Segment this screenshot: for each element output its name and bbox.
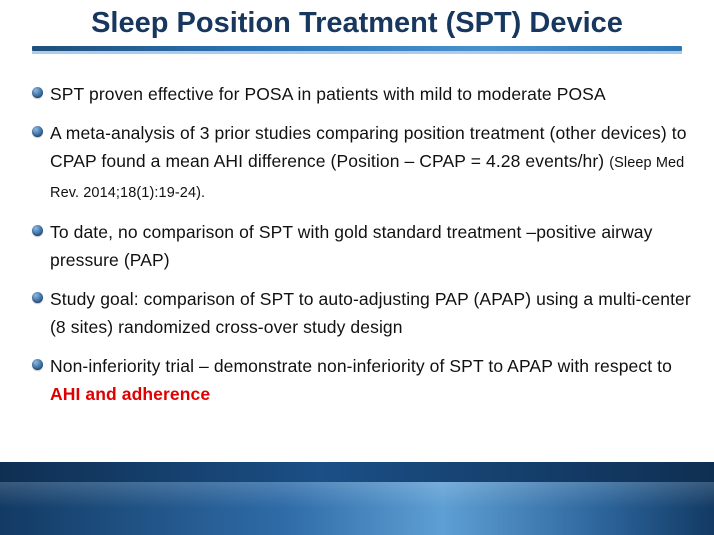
bullet-dot-icon [24,352,50,370]
list-item-text: To date, no comparison of SPT with gold … [50,218,696,274]
title-divider-bottom [32,51,682,54]
title-area: Sleep Position Treatment (SPT) Device [0,6,714,40]
slide-footer-band [0,462,714,535]
list-item: Study goal: comparison of SPT to auto-ad… [24,285,696,341]
list-item-main: To date, no comparison of SPT with gold … [50,222,653,270]
bullet-dot-icon [24,285,50,303]
bullet-dot-icon [24,218,50,236]
list-item: Non-inferiority trial – demonstrate non-… [24,352,696,408]
footer-band-dark [0,462,714,482]
list-item-text: Non-inferiority trial – demonstrate non-… [50,352,696,408]
list-item: SPT proven effective for POSA in patient… [24,80,696,108]
list-item-highlight: AHI and adherence [50,384,210,404]
list-item-text: SPT proven effective for POSA in patient… [50,80,696,108]
list-item: To date, no comparison of SPT with gold … [24,218,696,274]
list-item-main: SPT proven effective for POSA in patient… [50,84,606,104]
slide: Sleep Position Treatment (SPT) Device SP… [0,0,714,535]
bullet-dot-icon [24,119,50,137]
list-item-main: A meta-analysis of 3 prior studies compa… [50,123,687,171]
list-item-main: Study goal: comparison of SPT to auto-ad… [50,289,691,337]
list-item-text: Study goal: comparison of SPT to auto-ad… [50,285,696,341]
list-item-text: A meta-analysis of 3 prior studies compa… [50,119,696,207]
bullet-dot-icon [24,80,50,98]
bullet-list: SPT proven effective for POSA in patient… [24,80,696,419]
page-title: Sleep Position Treatment (SPT) Device [0,6,714,40]
list-item: A meta-analysis of 3 prior studies compa… [24,119,696,207]
title-divider [32,46,682,55]
footer-band-sheen [0,482,714,508]
list-item-main: Non-inferiority trial – demonstrate non-… [50,356,672,376]
